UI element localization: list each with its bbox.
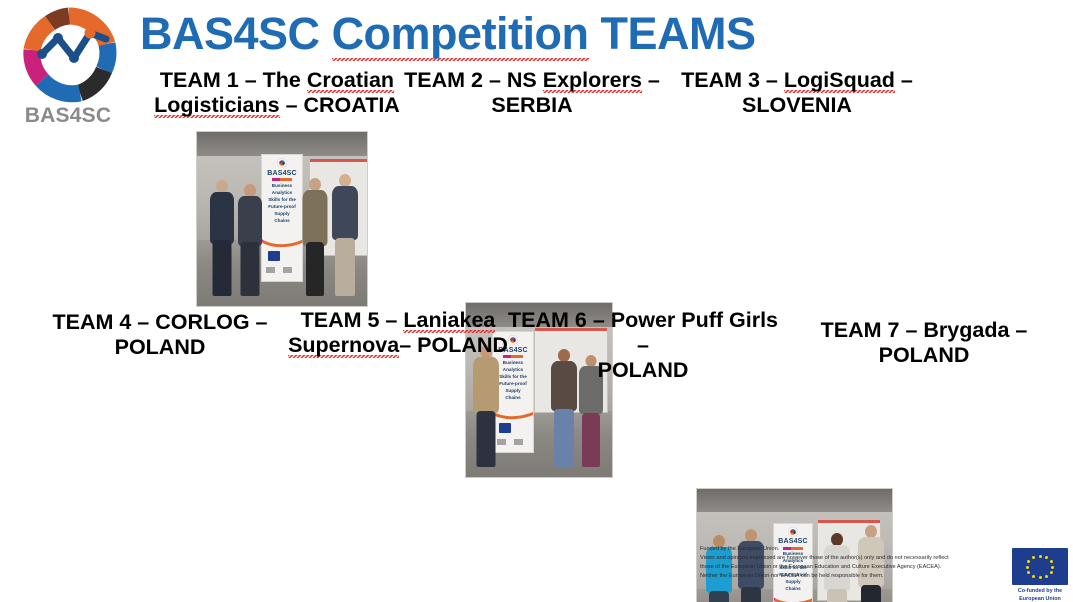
bas4sc-rollup-banner: BAS4SC Business Analytics Skills for the… — [261, 154, 303, 282]
banner-logo-icon — [277, 158, 287, 168]
bas4sc-logo: BAS4SC — [8, 4, 128, 132]
team-4-title: TEAM 4 – CORLOG – POLAND — [24, 310, 296, 360]
funding-line-4: Neither the European Union nor EACEA can… — [700, 572, 1000, 581]
eu-flag-icon — [1012, 548, 1068, 585]
eu-funding-disclaimer: Funded by the European Union. Views and … — [700, 545, 1000, 581]
page-title: BAS4SC Competition TEAMS — [140, 8, 756, 60]
team-1-title: TEAM 1 – The Croatian Logisticians – CRO… — [132, 68, 422, 118]
eu-badge-caption-line-2: European Union — [1019, 596, 1061, 602]
team-5-title-line-2-post: – POLAND — [399, 333, 508, 357]
page-title-part-2: TEAMS — [589, 8, 756, 59]
funding-line-1: Funded by the European Union. — [700, 545, 1000, 554]
team-1-title-line-1-pre: TEAM 1 – The — [160, 68, 307, 92]
page-title-misspelled-word: Competition — [332, 8, 589, 61]
team-card-6: TEAM 6 – Power Puff Girls – POLAND — [500, 308, 786, 383]
eu-badge-caption: Co-funded by the European Union — [1012, 588, 1068, 602]
team-2-title-line-2: SERBIA — [491, 93, 572, 117]
photo-ceiling — [697, 489, 892, 512]
team-1-title-line-2-post: – CROATIA — [280, 93, 400, 117]
team-4-title-line-2: POLAND — [115, 335, 206, 359]
team-6-title: TEAM 6 – Power Puff Girls – POLAND — [500, 308, 786, 383]
funding-line-3: those of the European Union or the Europ… — [700, 563, 1000, 572]
person — [301, 178, 329, 296]
banner-eu-flag-icon — [268, 251, 280, 261]
funding-line-2: Views and opinions expressed are however… — [700, 554, 1000, 563]
person — [472, 345, 500, 467]
team-card-2: TEAM 2 – NS Explorers – SERBIA — [404, 68, 660, 118]
eu-cofunded-badge: Co-funded by the European Union — [1012, 548, 1068, 602]
team-card-5: TEAM 5 – Laniakea Supernova– POLAND — [282, 308, 514, 358]
banner-partner-logos — [266, 267, 298, 273]
team-1-title-misspelled-1: Croatian — [307, 68, 394, 93]
banner-logo-icon — [788, 527, 798, 537]
person — [237, 184, 263, 296]
team-2-title: TEAM 2 – NS Explorers – SERBIA — [404, 68, 660, 118]
team-card-3: TEAM 3 – LogiSquad – SLOVENIA — [664, 68, 930, 118]
team-7-title: TEAM 7 – Brygada – POLAND — [780, 318, 1068, 368]
team-3-title-line-1-post: – — [895, 68, 913, 92]
banner-wordmark: BAS4SC — [267, 170, 297, 177]
banner-eu-flag-icon — [499, 423, 511, 433]
team-3-title: TEAM 3 – LogiSquad – SLOVENIA — [664, 68, 930, 118]
team-2-title-misspelled-1: Explorers — [543, 68, 642, 93]
bas4sc-logo-label: BAS4SC — [8, 104, 128, 128]
team-5-title-misspelled-2: Supernova — [288, 333, 399, 358]
team-3-title-line-2: SLOVENIA — [742, 93, 852, 117]
team-1-title-misspelled-2: Logisticians — [154, 93, 279, 118]
team-5-title-line-1-pre: TEAM 5 – — [301, 308, 404, 332]
team-2-title-line-1-pre: TEAM 2 – NS — [404, 68, 543, 92]
page-title-part-1: BAS4SC — [140, 8, 332, 59]
team-3-title-line-1-pre: TEAM 3 – — [681, 68, 784, 92]
team-3-title-misspelled-1: LogiSquad — [784, 68, 895, 93]
team-card-1: TEAM 1 – The Croatian Logisticians – CRO… — [132, 68, 422, 118]
photo-ceiling — [197, 132, 367, 156]
banner-rule — [272, 178, 293, 181]
team-6-title-line-1: TEAM 6 – Power Puff Girls – — [508, 308, 778, 357]
team-1-photo: BAS4SC Business Analytics Skills for the… — [196, 131, 368, 307]
team-card-4: TEAM 4 – CORLOG – POLAND — [24, 310, 296, 360]
slide-root: BAS4SC BAS4SC Competition TEAMS TEAM 1 –… — [0, 0, 1073, 602]
banner-swoosh-icon — [261, 205, 303, 250]
team-2-title-line-1-post: – — [642, 68, 660, 92]
bas4sc-logo-icon — [18, 6, 120, 106]
team-card-7: TEAM 7 – Brygada – POLAND — [780, 318, 1068, 368]
person — [331, 174, 359, 296]
person — [209, 180, 235, 296]
team-5-title: TEAM 5 – Laniakea Supernova– POLAND — [282, 308, 514, 358]
banner-partner-logos — [497, 439, 529, 445]
team-4-title-line-1: TEAM 4 – CORLOG – — [52, 310, 267, 334]
team-5-title-misspelled-1: Laniakea — [403, 308, 495, 333]
team-6-title-line-2: POLAND — [598, 358, 689, 382]
eu-badge-caption-line-1: Co-funded by the — [1018, 588, 1062, 594]
